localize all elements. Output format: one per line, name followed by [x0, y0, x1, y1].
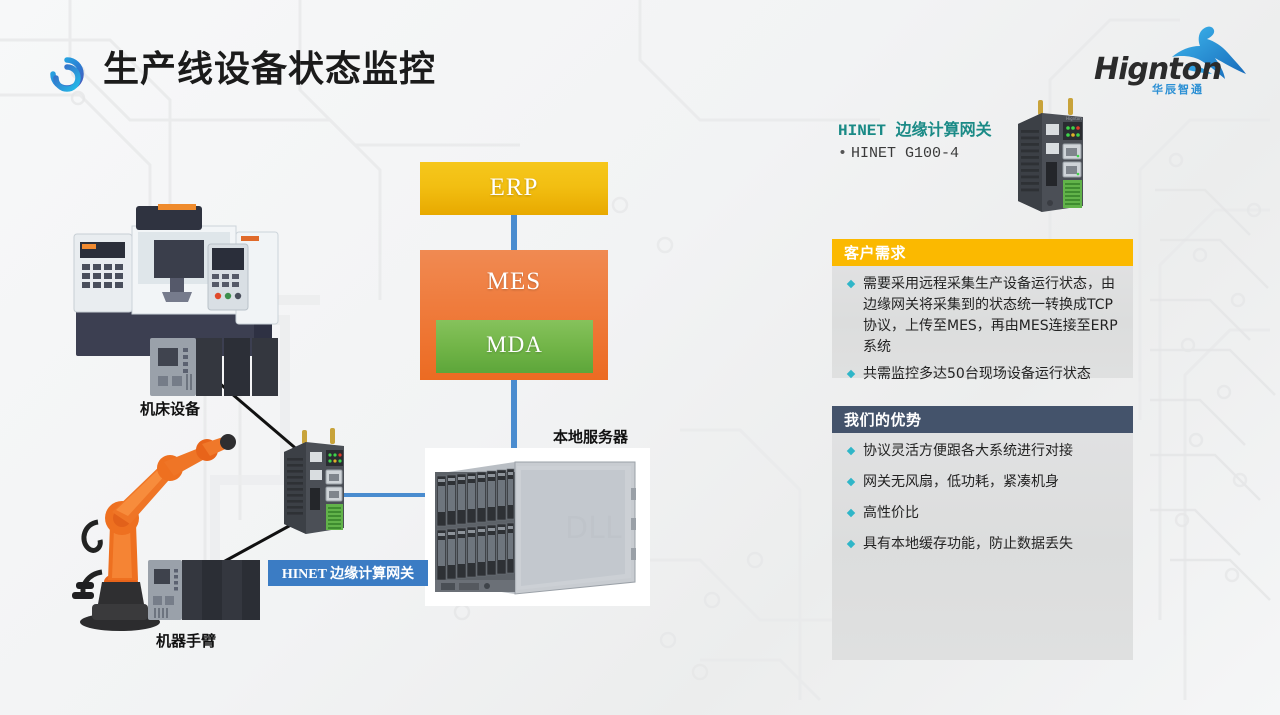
list-item-text: 共需监控多达50台现场设备运行状态	[863, 364, 1091, 385]
caption-robot: 机器手臂	[156, 630, 216, 651]
product-title: HINET 边缘计算网关	[838, 116, 992, 140]
brand-logo-icon	[36, 38, 94, 96]
list-item: 具有本地缓存功能，防止数据丢失	[842, 534, 1123, 555]
svg-text:DLL: DLL	[565, 511, 622, 546]
page-header: 生产线设备状态监控 Hignton 华辰智通	[0, 0, 1280, 108]
caption-machine: 机床设备	[140, 398, 200, 419]
panel-customer-needs-body: 需要采用远程采集生产设备运行状态，由边缘网关将采集到的状态统一转换成TCP协议，…	[832, 266, 1133, 378]
list-item-text: 网关无风扇，低功耗，紧凑机身	[863, 472, 1059, 493]
caption-server: 本地服务器	[553, 426, 628, 447]
diamond-bullet-icon	[847, 540, 855, 548]
logo-chinese-text: 华辰智通	[1152, 81, 1204, 97]
list-item-text: 需要采用远程采集生产设备运行状态，由边缘网关将采集到的状态统一转换成TCP协议，…	[863, 274, 1123, 358]
panel-our-advantages-body: 协议灵活方便跟各大系统进行对接 网关无风扇，低功耗，紧凑机身 高性价比 具有本地…	[832, 433, 1133, 660]
diamond-bullet-icon	[847, 509, 855, 517]
svg-text:Hignton: Hignton	[1066, 116, 1082, 121]
edge-gateway-product-image: Hignton	[1010, 98, 1092, 216]
robot-control-cabinet-image	[148, 556, 260, 624]
diamond-bullet-icon	[847, 370, 855, 378]
list-item-text: 协议灵活方便跟各大系统进行对接	[863, 441, 1073, 462]
panel-customer-needs-title: 客户需求	[832, 239, 1133, 266]
diamond-bullet-icon	[847, 447, 855, 455]
panel-our-advantages: 我们的优势 协议灵活方便跟各大系统进行对接 网关无风扇，低功耗，紧凑机身 高性价…	[832, 406, 1133, 660]
cnc-machine-image	[58, 196, 324, 396]
list-item-text: 高性价比	[863, 503, 919, 524]
panel-our-advantages-title: 我们的优势	[832, 406, 1133, 433]
local-server-image: DLL	[425, 448, 650, 606]
panel-customer-needs: 客户需求 需要采用远程采集生产设备运行状态，由边缘网关将采集到的状态统一转换成T…	[832, 239, 1133, 378]
list-item-text: 具有本地缓存功能，防止数据丢失	[863, 534, 1073, 555]
list-item: 高性价比	[842, 503, 1123, 524]
company-logo: Hignton 华辰智通	[1094, 24, 1242, 92]
page-title: 生产线设备状态监控	[103, 40, 436, 92]
edge-gateway-image	[276, 428, 352, 538]
product-model: •HINET G100-4	[838, 145, 959, 162]
product-model-text: HINET G100-4	[851, 145, 959, 162]
list-item: 需要采用远程采集生产设备运行状态，由边缘网关将采集到的状态统一转换成TCP协议，…	[842, 274, 1123, 358]
gateway-tag-label: HINET 边缘计算网关	[268, 560, 428, 586]
flow-box-mda[interactable]: MDA	[436, 320, 593, 373]
list-item: 共需监控多达50台现场设备运行状态	[842, 364, 1123, 385]
diamond-bullet-icon	[847, 478, 855, 486]
bullet-dot-icon: •	[838, 145, 847, 162]
list-item: 网关无风扇，低功耗，紧凑机身	[842, 472, 1123, 493]
diamond-bullet-icon	[847, 280, 855, 288]
list-item: 协议灵活方便跟各大系统进行对接	[842, 441, 1123, 462]
flow-box-erp[interactable]: ERP	[420, 162, 608, 215]
